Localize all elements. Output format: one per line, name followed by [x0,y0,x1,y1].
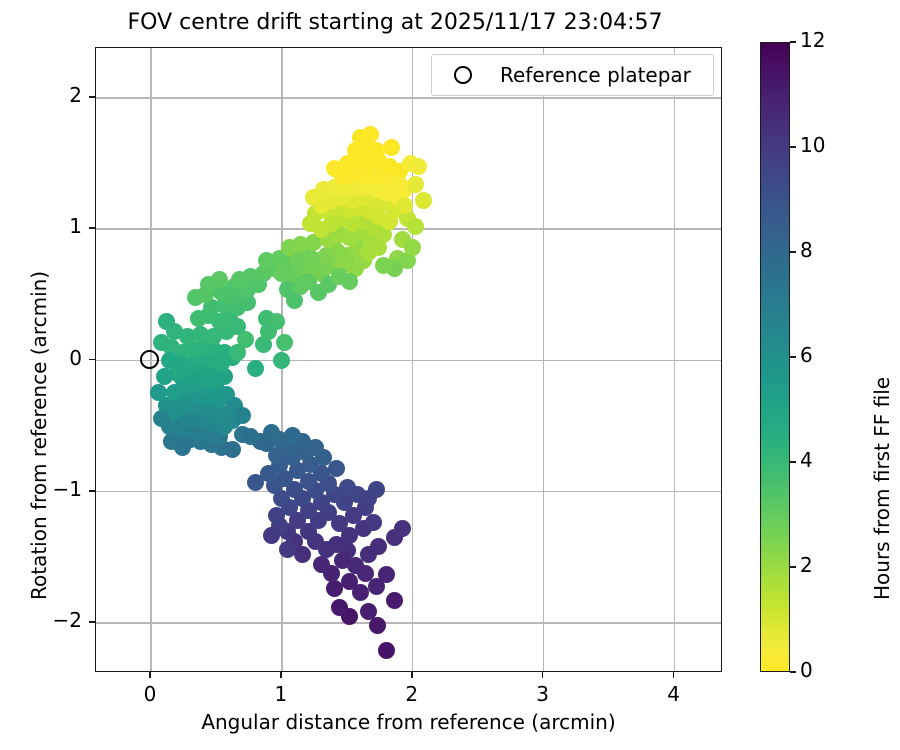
y-tick-label: 2 [24,83,82,107]
matplotlib-figure: FOV centre drift starting at 2025/11/17 … [0,0,900,750]
y-tick-mark [89,359,95,361]
scatter-point [370,538,387,555]
scatter-plot-axes [95,47,722,672]
scatter-point [378,566,395,583]
scatter-point [410,158,427,175]
x-tick-mark [673,672,675,678]
scatter-point [383,139,400,156]
colorbar-gradient [760,42,790,672]
colorbar-tick-label: 2 [800,553,813,577]
scatter-point [341,273,358,290]
scatter-point [362,126,379,143]
scatter-point [153,410,170,427]
scatter-point [231,271,248,288]
scatter-point [242,428,259,445]
colorbar-tick-label: 12 [800,28,825,52]
scatter-point [158,313,175,330]
scatter-point [276,334,293,351]
scatter-point [153,334,170,351]
colorbar-tick-mark [790,566,796,568]
x-tick-mark [411,672,413,678]
scatter-point [279,541,296,558]
colorbar-tick-mark [790,356,796,358]
scatter-point [407,176,424,193]
colorbar-tick-mark [790,671,796,673]
scatter-point [368,142,385,159]
y-tick-mark [89,621,95,623]
scatter-point [407,218,424,235]
x-tick-label: 4 [644,682,704,706]
scatter-point [174,439,191,456]
scatter-point [161,352,178,369]
colorbar-tick-mark [790,41,796,43]
y-axis-label: Rotation from reference (arcmin) [27,271,51,600]
colorbar-tick-label: 8 [800,238,813,262]
scatter-point [378,642,395,659]
scatter-point [156,368,173,385]
scatter-point [331,599,348,616]
scatter-point [334,552,351,569]
colorbar-tick-label: 0 [800,658,813,682]
y-tick-label: −2 [24,608,82,632]
gridline-horizontal [96,622,721,623]
scatter-point [247,360,264,377]
scatter-point [234,407,251,424]
colorbar-tick-label: 4 [800,448,813,472]
scatter-point [415,192,432,209]
x-tick-label: 3 [513,682,573,706]
scatter-point [313,556,330,573]
scatter-point [341,573,358,590]
open-circle-marker-icon [454,66,472,84]
scatter-point [404,239,421,256]
scatter-point [368,481,385,498]
chart-title: FOV centre drift starting at 2025/11/17 … [0,10,790,35]
scatter-point [394,520,411,537]
y-tick-label: −1 [24,477,82,501]
legend-label: Reference platepar [500,63,691,87]
gridline-horizontal [96,491,721,492]
colorbar [760,42,790,672]
colorbar-tick-mark [790,146,796,148]
scatter-point [187,289,204,306]
y-tick-mark [89,96,95,98]
scatter-point [273,352,290,369]
y-tick-label: 0 [24,346,82,370]
scatter-point [200,276,217,293]
y-tick-mark [89,227,95,229]
legend-box: Reference platepar [431,54,714,96]
x-tick-mark [542,672,544,678]
scatter-point [247,474,264,491]
x-tick-label: 1 [251,682,311,706]
scatter-point [369,617,386,634]
colorbar-tick-label: 10 [800,133,825,157]
y-tick-label: 1 [24,214,82,238]
x-tick-mark [149,672,151,678]
x-tick-label: 2 [382,682,442,706]
scatter-point [237,331,254,348]
scatter-point [360,603,377,620]
scatter-point [328,460,345,477]
colorbar-label: Hours from first FF file [870,377,894,600]
y-tick-mark [89,490,95,492]
scatter-point [263,527,280,544]
colorbar-tick-label: 6 [800,343,813,367]
x-axis-label: Angular distance from reference (arcmin) [95,710,722,734]
scatter-point [365,514,382,531]
scatter-point [386,592,403,609]
scatter-point [284,427,301,444]
gridline-horizontal [96,97,721,98]
scatter-point [150,384,167,401]
x-tick-mark [280,672,282,678]
colorbar-tick-mark [790,461,796,463]
scatter-point [260,323,277,340]
x-tick-label: 0 [120,682,180,706]
scatter-point [326,580,343,597]
colorbar-tick-mark [790,251,796,253]
